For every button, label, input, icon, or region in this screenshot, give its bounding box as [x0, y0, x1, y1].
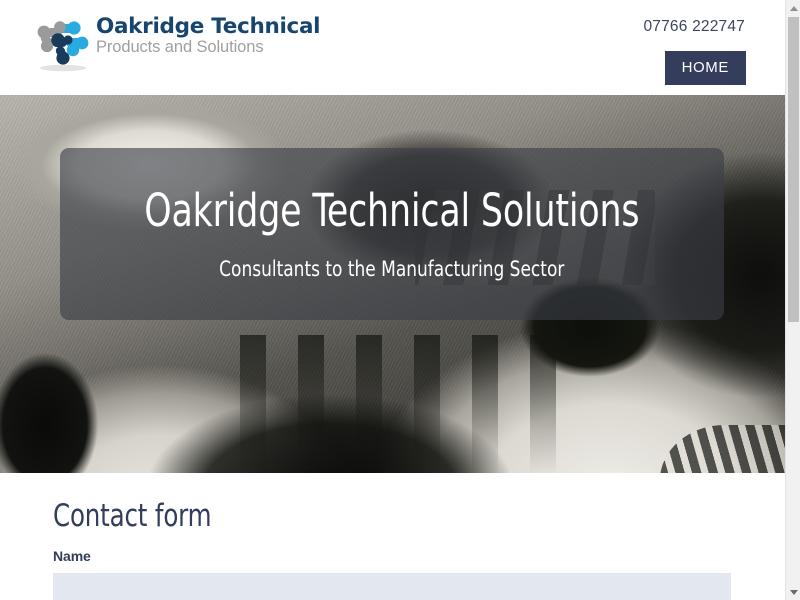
- hero-banner: Oakridge Technical Solutions Consultants…: [0, 95, 785, 473]
- site-header: Oakridge Technical Products and Solution…: [0, 0, 785, 95]
- logo-title: Oakridge Technical: [96, 16, 320, 39]
- phone-number[interactable]: 07766 222747: [643, 18, 745, 36]
- logo-tagline: Products and Solutions: [96, 38, 320, 57]
- hero-subtitle: Consultants to the Manufacturing Sector: [219, 259, 564, 280]
- contact-form-section: Contact form Name: [0, 473, 785, 600]
- scroll-up-triangle-up-icon[interactable]: [786, 0, 800, 16]
- nav-item-home[interactable]: HOME: [665, 51, 746, 85]
- scroll-down-triangle-down-icon[interactable]: [786, 584, 800, 600]
- vertical-scrollbar[interactable]: [785, 0, 800, 600]
- field-input-name[interactable]: [53, 573, 731, 600]
- field-label-name: Name: [53, 549, 785, 563]
- molecule-nodes-logo-icon: [34, 16, 92, 72]
- contact-form-heading: Contact form: [53, 501, 697, 532]
- scrollbar-thumb[interactable]: [788, 17, 799, 322]
- logo-wordmark: Oakridge Technical Products and Solution…: [96, 14, 320, 57]
- page-viewport: Oakridge Technical Products and Solution…: [0, 0, 785, 600]
- site-logo[interactable]: Oakridge Technical Products and Solution…: [34, 14, 294, 76]
- hero-title: Oakridge Technical Solutions: [144, 188, 639, 233]
- main-nav: HOME: [665, 51, 746, 85]
- hero-caption-panel: Oakridge Technical Solutions Consultants…: [60, 148, 724, 320]
- form-field-name: Name: [0, 549, 785, 600]
